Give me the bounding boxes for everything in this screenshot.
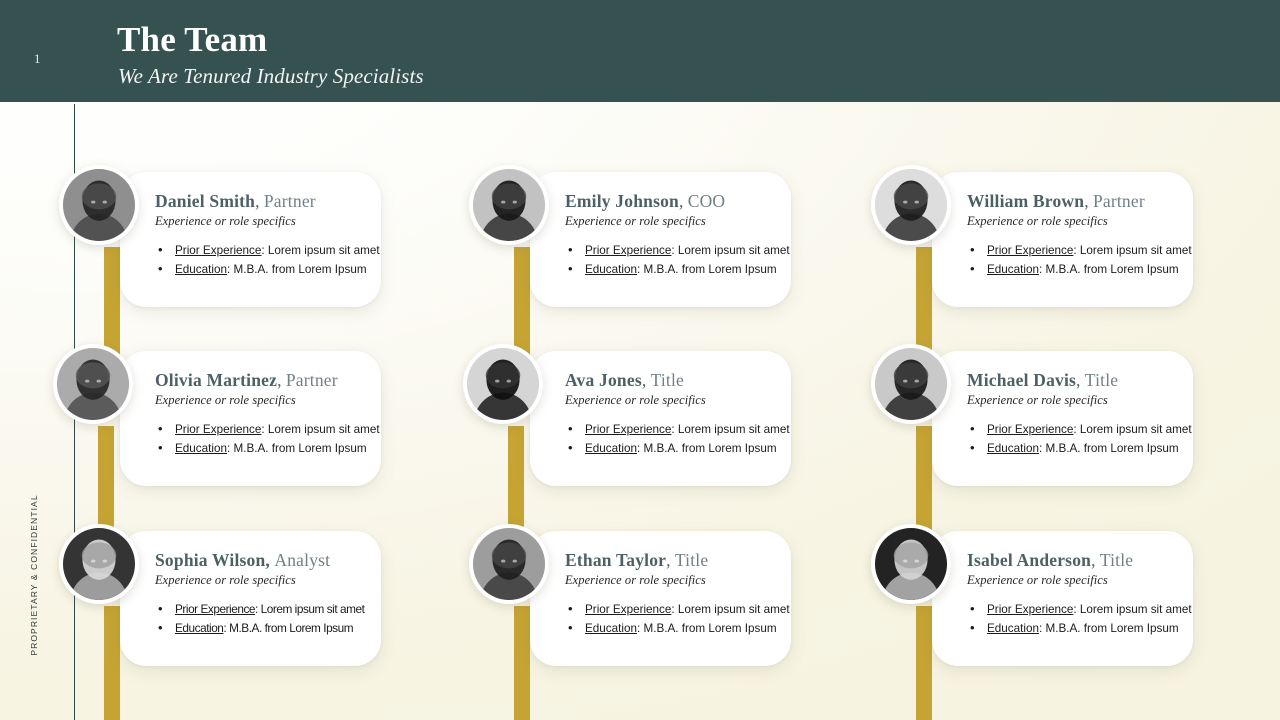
name-role-separator: , (1076, 370, 1085, 390)
bullet-value: : Lorem ipsum sit amet (671, 423, 789, 436)
avatar-daniel-smith[interactable] (59, 165, 139, 245)
member-name: Olivia Martinez (155, 370, 277, 390)
card-name-line: William Brown, Partner (967, 191, 1189, 212)
avatar-emily-johnson[interactable] (469, 165, 549, 245)
member-role: Partner (264, 191, 316, 211)
member-name: Daniel Smith (155, 191, 255, 211)
card-bullet: Prior Experience: Lorem ipsum sit amet (967, 600, 1189, 619)
card-body: Michael Davis, TitleExperience or role s… (967, 370, 1189, 458)
card-bullet: Education: M.B.A. from Lorem Ipsum (967, 439, 1189, 458)
team-member-card[interactable]: William Brown, PartnerExperience or role… (871, 165, 1193, 307)
team-member-card[interactable]: Daniel Smith, PartnerExperience or role … (59, 165, 381, 307)
member-role-subtitle: Experience or role specifics (155, 213, 377, 229)
slide-header: 1 The Team We Are Tenured Industry Speci… (0, 0, 1280, 102)
team-member-card[interactable]: Olivia Martinez, PartnerExperience or ro… (59, 344, 381, 486)
card-name-line: Daniel Smith, Partner (155, 191, 377, 212)
name-role-separator: , (1084, 191, 1093, 211)
team-member-card[interactable]: Emily Johnson, COOExperience or role spe… (469, 165, 791, 307)
bullet-label: Education (987, 263, 1039, 276)
bullet-value: : M.B.A. from Lorem Ipsum (1039, 263, 1179, 276)
bullet-value: : Lorem ipsum sit amet (261, 423, 379, 436)
card-bullet-list: Prior Experience: Lorem ipsum sit ametEd… (565, 241, 787, 279)
member-role: Title (651, 370, 684, 390)
avatar-ava-jones[interactable] (463, 344, 543, 424)
avatar-photo (875, 169, 947, 241)
avatar-photo (875, 348, 947, 420)
card-bullet: Education: M.B.A. from Lorem Ipsum (565, 439, 787, 458)
bullet-value: : Lorem ipsum sit amet (261, 244, 379, 257)
card-name-line: Isabel Anderson, Title (967, 550, 1189, 571)
bullet-value: : Lorem ipsum sit amet (671, 244, 789, 257)
name-role-separator: , (255, 191, 264, 211)
bullet-value: : M.B.A. from Lorem Ipsum (1039, 622, 1179, 635)
card-accent-bar (104, 606, 120, 720)
card-name-line: Ethan Taylor, Title (565, 550, 787, 571)
card-bullet: Prior Experience: Lorem ipsum sit amet (155, 420, 377, 439)
page-number: 1 (34, 51, 41, 67)
bullet-value: : Lorem ipsum sit amet (1073, 244, 1191, 257)
card-body: Sophia Wilson, AnalystExperience or role… (155, 550, 377, 638)
card-name-line: Olivia Martinez, Partner (155, 370, 377, 391)
bullet-label: Education (585, 442, 637, 455)
confidential-notice: PROPRIETARY & CONFIDENTIAL (29, 480, 39, 670)
card-bullet: Education: M.B.A. from Lorem Ipsum (155, 439, 377, 458)
card-body: Ava Jones, TitleExperience or role speci… (565, 370, 787, 458)
member-name: Isabel Anderson (967, 550, 1091, 570)
card-name-line: Sophia Wilson, Analyst (155, 550, 377, 571)
avatar-photo (473, 528, 545, 600)
name-role-separator: , (679, 191, 688, 211)
bullet-value: : Lorem ipsum sit amet (1073, 423, 1191, 436)
member-name: William Brown (967, 191, 1084, 211)
member-role-subtitle: Experience or role specifics (565, 392, 787, 408)
bullet-value: : Lorem ipsum sit amet (255, 602, 364, 616)
card-bullet: Education: M.B.A. from Lorem Ipsum (967, 619, 1189, 638)
card-bullet-list: Prior Experience: Lorem ipsum sit ametEd… (565, 600, 787, 638)
member-role: Title (1100, 550, 1133, 570)
card-name-line: Ava Jones, Title (565, 370, 787, 391)
card-body: Daniel Smith, PartnerExperience or role … (155, 191, 377, 279)
card-bullet-list: Prior Experience: Lorem ipsum sit ametEd… (967, 600, 1189, 638)
bullet-label: Prior Experience (987, 603, 1073, 616)
card-bullet-list: Prior Experience: Lorem ipsum sit ametEd… (967, 420, 1189, 458)
avatar-olivia-martinez[interactable] (53, 344, 133, 424)
bullet-label: Prior Experience (987, 244, 1073, 257)
bullet-label: Education (175, 263, 227, 276)
card-bullet: Education: M.B.A. from Lorem Ipsum (565, 260, 787, 279)
name-role-separator: , (1091, 550, 1100, 570)
avatar-william-brown[interactable] (871, 165, 951, 245)
bullet-value: : M.B.A. from Lorem Ipsum (637, 263, 777, 276)
member-role-subtitle: Experience or role specifics (565, 572, 787, 588)
member-role-subtitle: Experience or role specifics (155, 572, 377, 588)
avatar-isabel-anderson[interactable] (871, 524, 951, 604)
card-body: Ethan Taylor, TitleExperience or role sp… (565, 550, 787, 638)
avatar-photo (57, 348, 129, 420)
slide-canvas: 1 The Team We Are Tenured Industry Speci… (0, 0, 1280, 720)
member-role-subtitle: Experience or role specifics (967, 213, 1189, 229)
avatar-sophia-wilson[interactable] (59, 524, 139, 604)
bullet-label: Prior Experience (175, 602, 255, 616)
bullet-label: Prior Experience (585, 423, 671, 436)
card-bullet: Prior Experience: Lorem ipsum sit amet (967, 241, 1189, 260)
bullet-label: Education (175, 621, 223, 635)
member-role: Partner (1093, 191, 1145, 211)
name-role-separator: , (642, 370, 651, 390)
card-bullet: Education: M.B.A. from Lorem Ipsum (967, 260, 1189, 279)
name-role-separator: , (277, 370, 286, 390)
page-subtitle: We Are Tenured Industry Specialists (118, 63, 424, 90)
bullet-label: Prior Experience (175, 244, 261, 257)
avatar-photo (473, 169, 545, 241)
card-body: Isabel Anderson, TitleExperience or role… (967, 550, 1189, 638)
member-role: Title (1085, 370, 1118, 390)
card-name-line: Emily Johnson, COO (565, 191, 787, 212)
team-member-card[interactable]: Ethan Taylor, TitleExperience or role sp… (469, 524, 791, 666)
card-bullet: Prior Experience: Lorem ipsum sit amet (565, 241, 787, 260)
bullet-value: : M.B.A. from Lorem Ipsum (227, 442, 367, 455)
card-accent-bar (916, 606, 932, 720)
bullet-label: Education (175, 442, 227, 455)
bullet-value: : M.B.A. from Lorem Ipsum (1039, 442, 1179, 455)
bullet-label: Prior Experience (175, 423, 261, 436)
card-accent-bar (514, 606, 530, 720)
team-member-card[interactable]: Sophia Wilson, AnalystExperience or role… (59, 524, 381, 666)
avatar-michael-davis[interactable] (871, 344, 951, 424)
card-bullet: Prior Experience: Lorem ipsum sit amet (565, 420, 787, 439)
member-name: Ava Jones (565, 370, 642, 390)
team-member-card[interactable]: Michael Davis, TitleExperience or role s… (871, 344, 1193, 486)
member-role: Analyst (274, 550, 330, 570)
bullet-label: Education (585, 622, 637, 635)
bullet-value: : Lorem ipsum sit amet (1073, 603, 1191, 616)
member-role-subtitle: Experience or role specifics (967, 572, 1189, 588)
avatar-photo (875, 528, 947, 600)
bullet-label: Education (987, 622, 1039, 635)
avatar-ethan-taylor[interactable] (469, 524, 549, 604)
card-name-line: Michael Davis, Title (967, 370, 1189, 391)
bullet-value: : M.B.A. from Lorem Ipsum (227, 263, 367, 276)
member-name: Emily Johnson (565, 191, 679, 211)
bullet-value: : Lorem ipsum sit amet (671, 603, 789, 616)
bullet-value: : M.B.A. from Lorem Ipsum (223, 621, 353, 635)
member-name: Ethan Taylor (565, 550, 666, 570)
card-bullet-list: Prior Experience: Lorem ipsum sit ametEd… (565, 420, 787, 458)
card-bullet-list: Prior Experience: Lorem ipsum sit ametEd… (967, 241, 1189, 279)
card-bullet: Prior Experience: Lorem ipsum sit amet (967, 420, 1189, 439)
member-role: Title (675, 550, 708, 570)
member-name: Sophia Wilson, (155, 550, 270, 570)
card-body: William Brown, PartnerExperience or role… (967, 191, 1189, 279)
card-bullet-list: Prior Experience: Lorem ipsum sit ametEd… (155, 241, 377, 279)
card-body: Emily Johnson, COOExperience or role spe… (565, 191, 787, 279)
member-role: Partner (286, 370, 338, 390)
team-member-card[interactable]: Isabel Anderson, TitleExperience or role… (871, 524, 1193, 666)
name-role-separator: , (666, 550, 675, 570)
card-bullet: Education: M.B.A. from Lorem Ipsum (155, 619, 377, 638)
bullet-label: Prior Experience (585, 244, 671, 257)
bullet-label: Prior Experience (585, 603, 671, 616)
bullet-value: : M.B.A. from Lorem Ipsum (637, 622, 777, 635)
card-body: Olivia Martinez, PartnerExperience or ro… (155, 370, 377, 458)
card-bullet-list: Prior Experience: Lorem ipsum sit ametEd… (155, 600, 377, 638)
bullet-label: Education (585, 263, 637, 276)
card-bullet: Prior Experience: Lorem ipsum sit amet (155, 600, 377, 619)
card-bullet: Education: M.B.A. from Lorem Ipsum (565, 619, 787, 638)
bullet-value: : M.B.A. from Lorem Ipsum (637, 442, 777, 455)
team-member-card[interactable]: Ava Jones, TitleExperience or role speci… (469, 344, 791, 486)
member-role-subtitle: Experience or role specifics (967, 392, 1189, 408)
avatar-photo (467, 348, 539, 420)
avatar-photo (63, 528, 135, 600)
member-role: COO (688, 191, 726, 211)
member-role-subtitle: Experience or role specifics (565, 213, 787, 229)
card-bullet-list: Prior Experience: Lorem ipsum sit ametEd… (155, 420, 377, 458)
card-bullet: Prior Experience: Lorem ipsum sit amet (565, 600, 787, 619)
card-bullet: Prior Experience: Lorem ipsum sit amet (155, 241, 377, 260)
member-role-subtitle: Experience or role specifics (155, 392, 377, 408)
bullet-label: Education (987, 442, 1039, 455)
member-name: Michael Davis (967, 370, 1076, 390)
bullet-label: Prior Experience (987, 423, 1073, 436)
avatar-photo (63, 169, 135, 241)
page-title: The Team (117, 19, 267, 61)
card-bullet: Education: M.B.A. from Lorem Ipsum (155, 260, 377, 279)
